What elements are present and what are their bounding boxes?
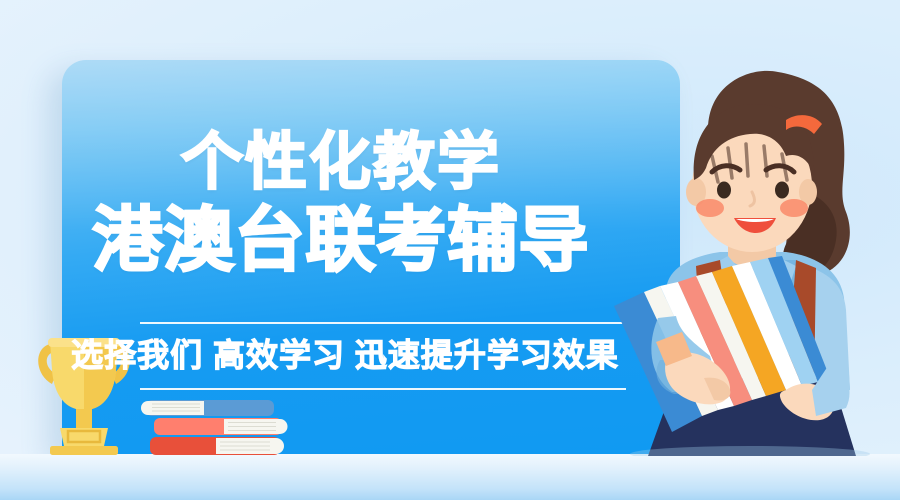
blush-left <box>696 199 724 217</box>
student-with-books-illustration <box>600 60 900 456</box>
eye-left <box>717 182 731 199</box>
eye-right <box>775 182 789 199</box>
promo-banner: 个性化教学 港澳台联考辅导 选择我们 高效学习 迅速提升学习效果 <box>0 0 900 500</box>
book-stack-icon <box>140 398 290 458</box>
floor-band <box>0 454 900 500</box>
divider-line-top <box>140 322 626 324</box>
divider-line-bottom <box>140 388 626 390</box>
subtitle-text: 选择我们 高效学习 迅速提升学习效果 <box>0 334 690 376</box>
headline-card <box>62 60 680 456</box>
card-sheen-overlay <box>62 60 680 230</box>
blush-right <box>780 199 808 217</box>
